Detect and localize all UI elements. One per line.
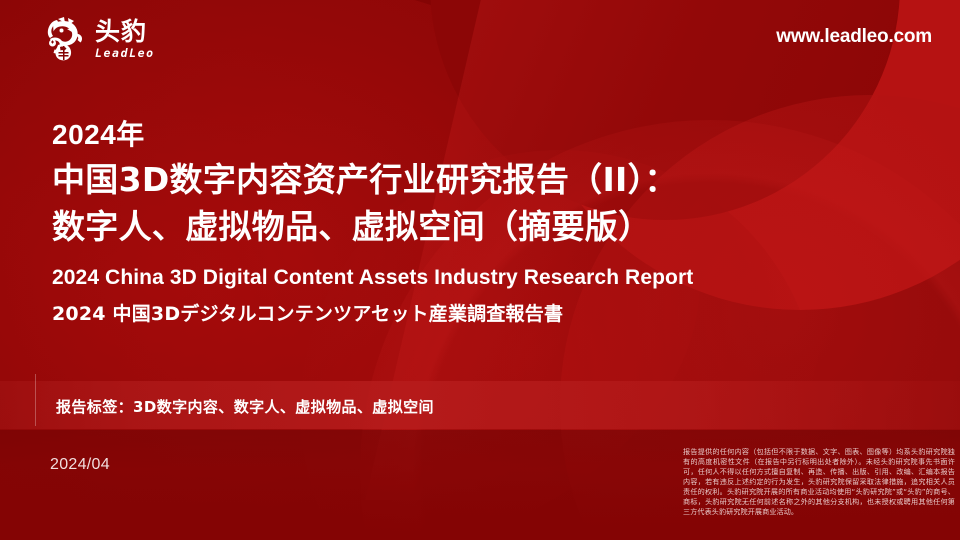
brand-name-cn: 头豹 — [95, 19, 155, 44]
site-url[interactable]: www.leadleo.com — [776, 26, 932, 48]
report-date: 2024/04 — [50, 456, 110, 474]
brand-logo[interactable]: 头豹 LeadLeo — [38, 14, 155, 64]
report-title: 中国3D数字内容资产行业研究报告（II）： 数字人、虚拟物品、虚拟空间（摘要版） — [52, 157, 852, 251]
report-tags-text: 报告标签：3D数字内容、数字人、虚拟物品、虚拟空间 — [56, 396, 434, 417]
report-title-line-1: 中国3D数字内容资产行业研究报告（II）： — [52, 157, 852, 204]
report-title-line-2: 数字人、虚拟物品、虚拟空间（摘要版） — [52, 204, 852, 251]
report-year: 2024年 — [52, 118, 852, 151]
title-block: 2024年 中国3D数字内容资产行业研究报告（II）： 数字人、虚拟物品、虚拟空… — [52, 118, 852, 324]
brand-name-en: LeadLeo — [95, 48, 155, 60]
leopard-head-icon — [38, 14, 88, 64]
legal-disclaimer: 报告提供的任何内容（包括但不限于数据、文字、图表、图像等）均系头豹研究院独有的高… — [683, 447, 955, 517]
tag-band-left-rule — [35, 374, 36, 426]
report-cover-slide: 头豹 LeadLeo www.leadleo.com 2024年 中国3D数字内… — [0, 0, 960, 540]
slide-header: 头豹 LeadLeo www.leadleo.com — [0, 0, 960, 80]
report-title-japanese: 2024 中国3Dデジタルコンテンツアセット産業調査報告書 — [52, 305, 852, 324]
report-title-english: 2024 China 3D Digital Content Assets Ind… — [52, 267, 852, 288]
brand-logo-text: 头豹 LeadLeo — [95, 19, 155, 60]
